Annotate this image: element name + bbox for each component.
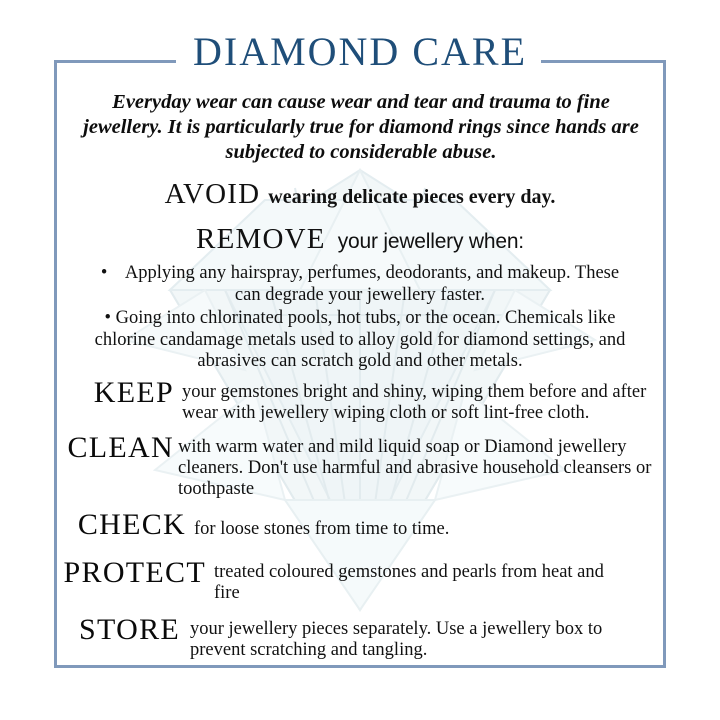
clean-keyword: CLEAN (54, 433, 178, 463)
care-row-store: STORE your jewellery pieces separately. … (54, 615, 666, 661)
remove-keyword: REMOVE (196, 223, 326, 255)
list-item-text: Going into chlorinated pools, hot tubs, … (95, 308, 626, 371)
diamond-care-poster: DIAMOND CARE Everyday wear can cause wea… (0, 0, 720, 720)
avoid-row: AVOIDwearing delicate pieces every day. (54, 178, 666, 211)
list-item: • Applying any hairspray, perfumes, deod… (62, 263, 658, 306)
avoid-keyword: AVOID (165, 178, 261, 210)
remove-row: REMOVEyour jewellery when: (54, 223, 666, 256)
keep-body: your gemstones bright and shiny, wiping … (182, 378, 666, 424)
list-item-text: Applying any hairspray, perfumes, deodor… (125, 263, 619, 305)
check-body: for loose stones from time to time. (194, 510, 666, 540)
protect-keyword: PROTECT (54, 558, 214, 588)
poster-content: DIAMOND CARE Everyday wear can cause wea… (54, 60, 666, 668)
keep-keyword: KEEP (54, 378, 182, 408)
page-title: DIAMOND CARE (54, 32, 666, 72)
avoid-body: wearing delicate pieces every day. (268, 186, 555, 208)
care-row-check: CHECK for loose stones from time to time… (54, 510, 666, 540)
bullet-dot-icon: • (104, 308, 110, 328)
bullet-dot-icon: • (101, 263, 107, 283)
intro-paragraph: Everyday wear can cause wear and tear an… (72, 90, 650, 165)
store-body: your jewellery pieces separately. Use a … (190, 615, 666, 661)
care-row-clean: CLEAN with warm water and mild liquid so… (54, 433, 666, 500)
care-row-protect: PROTECT treated coloured gemstones and p… (54, 558, 666, 604)
store-keyword: STORE (54, 615, 190, 645)
clean-body: with warm water and mild liquid soap or … (178, 433, 666, 500)
protect-body: treated coloured gemstones and pearls fr… (214, 558, 666, 604)
check-keyword: CHECK (54, 510, 194, 540)
list-item: • Going into chlorinated pools, hot tubs… (62, 308, 658, 373)
remove-bullet-list: • Applying any hairspray, perfumes, deod… (62, 263, 658, 375)
care-row-keep: KEEP your gemstones bright and shiny, wi… (54, 378, 666, 424)
remove-body: your jewellery when: (338, 230, 524, 253)
